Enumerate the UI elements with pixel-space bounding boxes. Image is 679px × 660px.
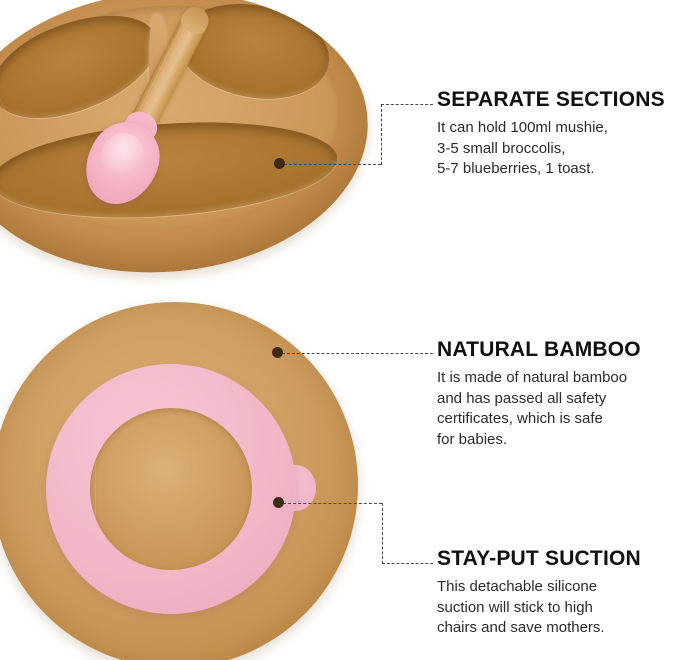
callout-heading-separate-sections: SEPARATE SECTIONS <box>437 88 665 112</box>
pink-silicone-suction-ring <box>46 364 296 614</box>
connector-3-segment-horizontal-upper <box>283 503 382 504</box>
connector-1-segment-horizontal-lower <box>284 164 381 165</box>
callout-body-separate-sections: It can hold 100ml mushie, 3-5 small broc… <box>437 118 665 180</box>
product-photo-top <box>0 0 368 280</box>
callout-body-stay-put-suction: This detachable silicone suction will st… <box>437 577 641 639</box>
marker-dot-natural-bamboo <box>272 347 283 358</box>
connector-3-segment-vertical <box>382 503 383 564</box>
callout-body-natural-bamboo: It is made of natural bamboo and has pas… <box>437 368 641 450</box>
marker-dot-separate-sections <box>274 158 285 169</box>
connector-3-segment-horizontal-lower <box>382 563 433 564</box>
callout-heading-natural-bamboo: NATURAL BAMBOO <box>437 338 641 362</box>
connector-1-segment-vertical <box>381 104 382 165</box>
callout-natural-bamboo: NATURAL BAMBOO It is made of natural bam… <box>437 338 641 450</box>
connector-1-segment-horizontal-upper <box>381 104 433 105</box>
product-photo-bottom <box>0 302 366 660</box>
marker-dot-stay-put-suction <box>273 497 284 508</box>
infographic-canvas: SEPARATE SECTIONS It can hold 100ml mush… <box>0 0 679 660</box>
callout-separate-sections: SEPARATE SECTIONS It can hold 100ml mush… <box>437 88 665 180</box>
callout-stay-put-suction: STAY-PUT SUCTION This detachable silicon… <box>437 547 641 639</box>
connector-2-segment-horizontal <box>282 353 433 354</box>
callout-heading-stay-put-suction: STAY-PUT SUCTION <box>437 547 641 571</box>
